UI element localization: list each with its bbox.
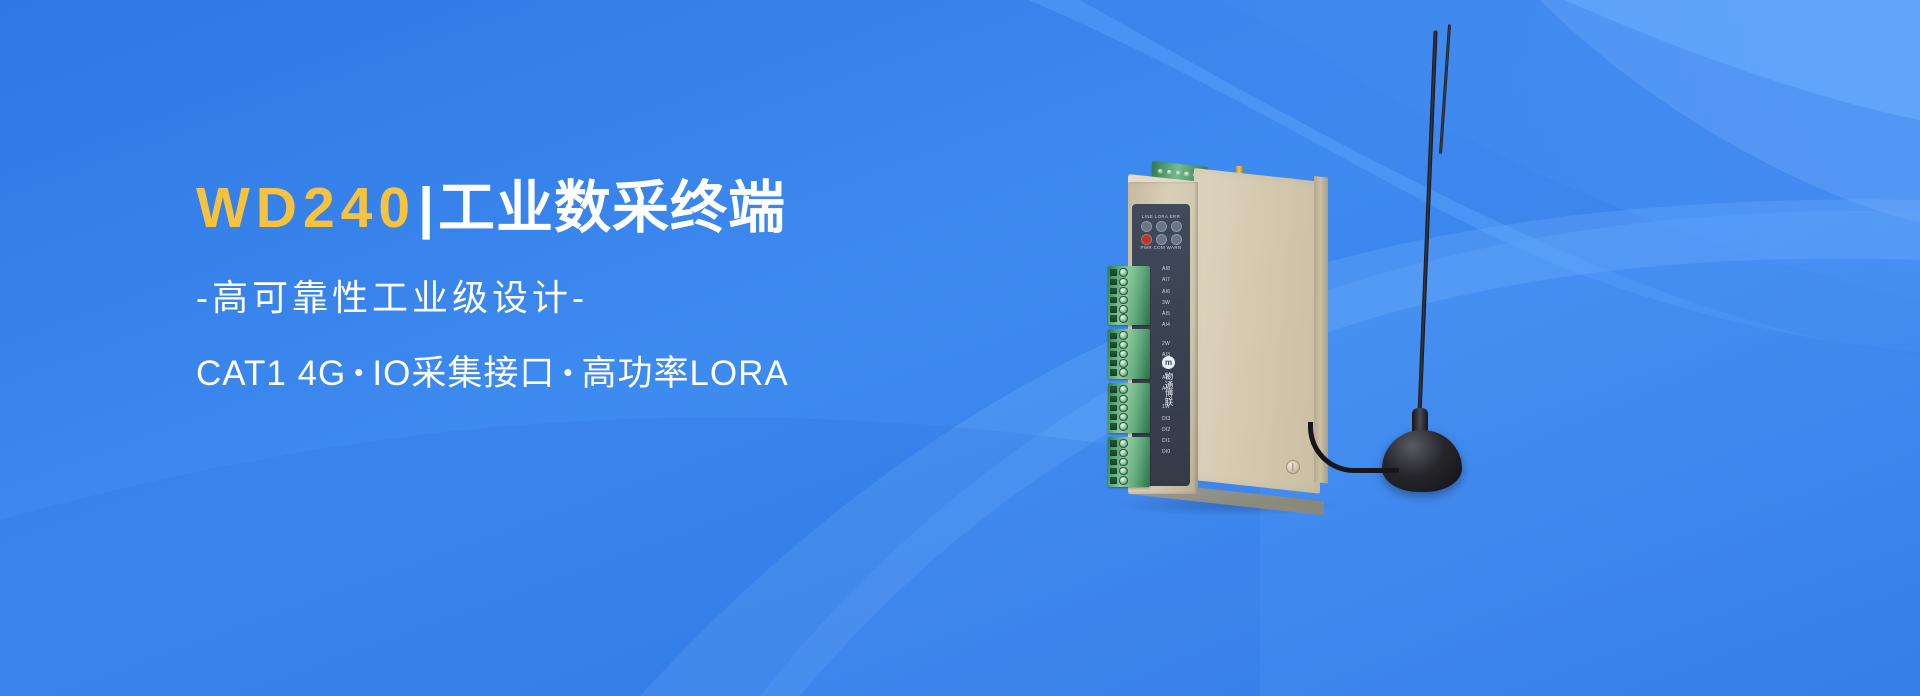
page-subtitle: -高可靠性工业级设计- [196, 276, 1016, 319]
terminal-screw [1110, 333, 1117, 339]
terminal-hole [1119, 331, 1128, 340]
terminal-pin [1108, 403, 1150, 412]
port-label: DI0 [1162, 447, 1188, 458]
connector-pin [1176, 171, 1181, 177]
terminal-screw [1110, 440, 1117, 446]
device-side-face [1194, 168, 1320, 494]
terminal-hole [1119, 314, 1128, 323]
port-label: AI5 [1162, 309, 1188, 320]
led-err-indicator [1171, 221, 1182, 232]
terminal-screw [1110, 414, 1117, 420]
terminal-block-stack [1108, 266, 1152, 491]
terminal-pin [1108, 368, 1150, 377]
terminal-pin [1108, 340, 1150, 349]
led-warn-indicator [1171, 234, 1182, 245]
port-label: 3W [1162, 298, 1188, 309]
port-label: AI4 [1162, 320, 1188, 331]
brand-mark: m 物通博联 [1162, 356, 1188, 406]
port-label: AI7 [1162, 275, 1188, 286]
port-label: AI8 [1162, 264, 1188, 275]
feature-item-2: IO采集接口 [372, 354, 555, 393]
terminal-pin [1108, 286, 1150, 295]
terminal-pin [1108, 422, 1150, 431]
terminal-screw [1110, 315, 1117, 321]
terminal-hole [1119, 422, 1128, 431]
terminal-screw [1110, 450, 1117, 456]
terminal-pin [1108, 268, 1150, 277]
terminal-pin [1108, 277, 1150, 286]
terminal-screw [1110, 396, 1117, 402]
terminal-screw [1110, 386, 1117, 392]
terminal-pin [1108, 394, 1150, 403]
port-label: 2W [1162, 339, 1188, 350]
terminal-hole [1119, 296, 1128, 305]
bullet-separator-icon: • [563, 357, 573, 388]
port-label: DI2 [1162, 425, 1188, 436]
page-title: WD240|工业数采终端 [196, 176, 1016, 242]
terminal-hole [1119, 359, 1128, 368]
antenna-tip [1439, 24, 1451, 154]
antenna-rod [1416, 30, 1438, 450]
terminal-hole [1119, 476, 1128, 485]
feature-item-3: 高功率LORA [581, 354, 788, 393]
terminal-screw [1110, 477, 1117, 483]
led-line-indicator [1141, 221, 1152, 232]
terminal-screw [1110, 297, 1117, 303]
port-label: DI1 [1162, 436, 1188, 447]
led-indicator-panel: LINE LORA ERR PWR COM WARN [1137, 214, 1185, 258]
antenna-cable [1308, 422, 1399, 473]
port-label-group: AI8 AI7 AI6 3W AI5 AI4 [1162, 264, 1188, 332]
terminal-screw [1110, 468, 1117, 474]
led-bottom-caption: PWR COM WARN [1137, 245, 1185, 250]
terminal-block [1108, 383, 1150, 433]
terminal-block [1108, 329, 1150, 379]
bullet-separator-icon: • [354, 357, 364, 388]
terminal-hole [1119, 287, 1128, 296]
terminal-screw [1110, 369, 1117, 375]
terminal-screw [1110, 342, 1117, 348]
top-connector-pins [1158, 169, 1199, 179]
terminal-pin [1108, 439, 1150, 448]
terminal-hole [1119, 395, 1128, 404]
terminal-hole [1119, 268, 1128, 277]
terminal-pin [1108, 359, 1150, 368]
terminal-screw [1110, 405, 1117, 411]
terminal-hole [1119, 278, 1128, 287]
feature-list: CAT1 4G•IO采集接口•高功率LORA [196, 353, 1016, 395]
terminal-hole [1119, 467, 1128, 476]
terminal-pin [1108, 476, 1150, 485]
terminal-pin [1108, 314, 1150, 323]
terminal-pin [1108, 413, 1150, 422]
terminal-screw [1110, 351, 1117, 357]
terminal-screw [1110, 423, 1117, 429]
terminal-hole [1119, 404, 1128, 413]
terminal-pin [1108, 305, 1150, 314]
connector-pin [1158, 169, 1163, 175]
terminal-hole [1119, 385, 1128, 394]
terminal-pin [1108, 331, 1150, 340]
product-hero-banner: WD240|工业数采终端 -高可靠性工业级设计- CAT1 4G•IO采集接口•… [0, 0, 1920, 696]
terminal-pin [1108, 448, 1150, 457]
product-image: LINE LORA ERR PWR COM WARN [1080, 0, 1920, 696]
terminal-screw [1110, 306, 1117, 312]
terminal-screw [1110, 288, 1117, 294]
terminal-pin [1108, 385, 1150, 394]
case-screw-bottom [1286, 460, 1300, 474]
terminal-screw [1110, 279, 1117, 285]
led-top-caption: LINE LORA ERR [1137, 214, 1185, 219]
connector-pin [1184, 171, 1189, 177]
terminal-hole [1119, 305, 1128, 314]
brand-logo-icon: m [1162, 356, 1175, 369]
product-category-cn: 工业数采终端 [438, 176, 786, 240]
terminal-block [1108, 266, 1150, 325]
terminal-screw [1110, 459, 1117, 465]
port-label: DI3 [1162, 414, 1188, 425]
terminal-pin [1108, 467, 1150, 476]
whip-antenna [1316, 30, 1506, 520]
terminal-pin [1108, 350, 1150, 359]
terminal-hole [1119, 413, 1128, 422]
terminal-hole [1119, 458, 1128, 467]
feature-item-1: CAT1 4G [196, 354, 346, 393]
connector-pin [1167, 170, 1172, 176]
terminal-hole [1119, 341, 1128, 350]
brand-name-cn: 物通博联 [1162, 372, 1175, 406]
marketing-copy: WD240|工业数采终端 -高可靠性工业级设计- CAT1 4G•IO采集接口•… [196, 176, 1016, 395]
led-lora-indicator [1156, 221, 1167, 232]
terminal-hole [1119, 449, 1128, 458]
terminal-screw [1110, 360, 1117, 366]
led-com-indicator [1156, 234, 1167, 245]
port-label-group: 1W DI3 DI2 DI1 DI0 [1162, 402, 1188, 458]
terminal-hole [1119, 439, 1128, 448]
title-separator: | [418, 176, 436, 240]
terminal-hole [1119, 350, 1128, 359]
terminal-pin [1108, 296, 1150, 305]
product-model: WD240 [196, 176, 416, 240]
led-row-top [1137, 221, 1185, 232]
port-label: AI6 [1162, 287, 1188, 298]
led-row-bottom [1137, 234, 1185, 245]
terminal-block [1108, 437, 1150, 487]
led-pwr-indicator [1141, 234, 1152, 245]
terminal-pin [1108, 457, 1150, 466]
terminal-hole [1119, 368, 1128, 377]
terminal-screw [1110, 269, 1117, 275]
